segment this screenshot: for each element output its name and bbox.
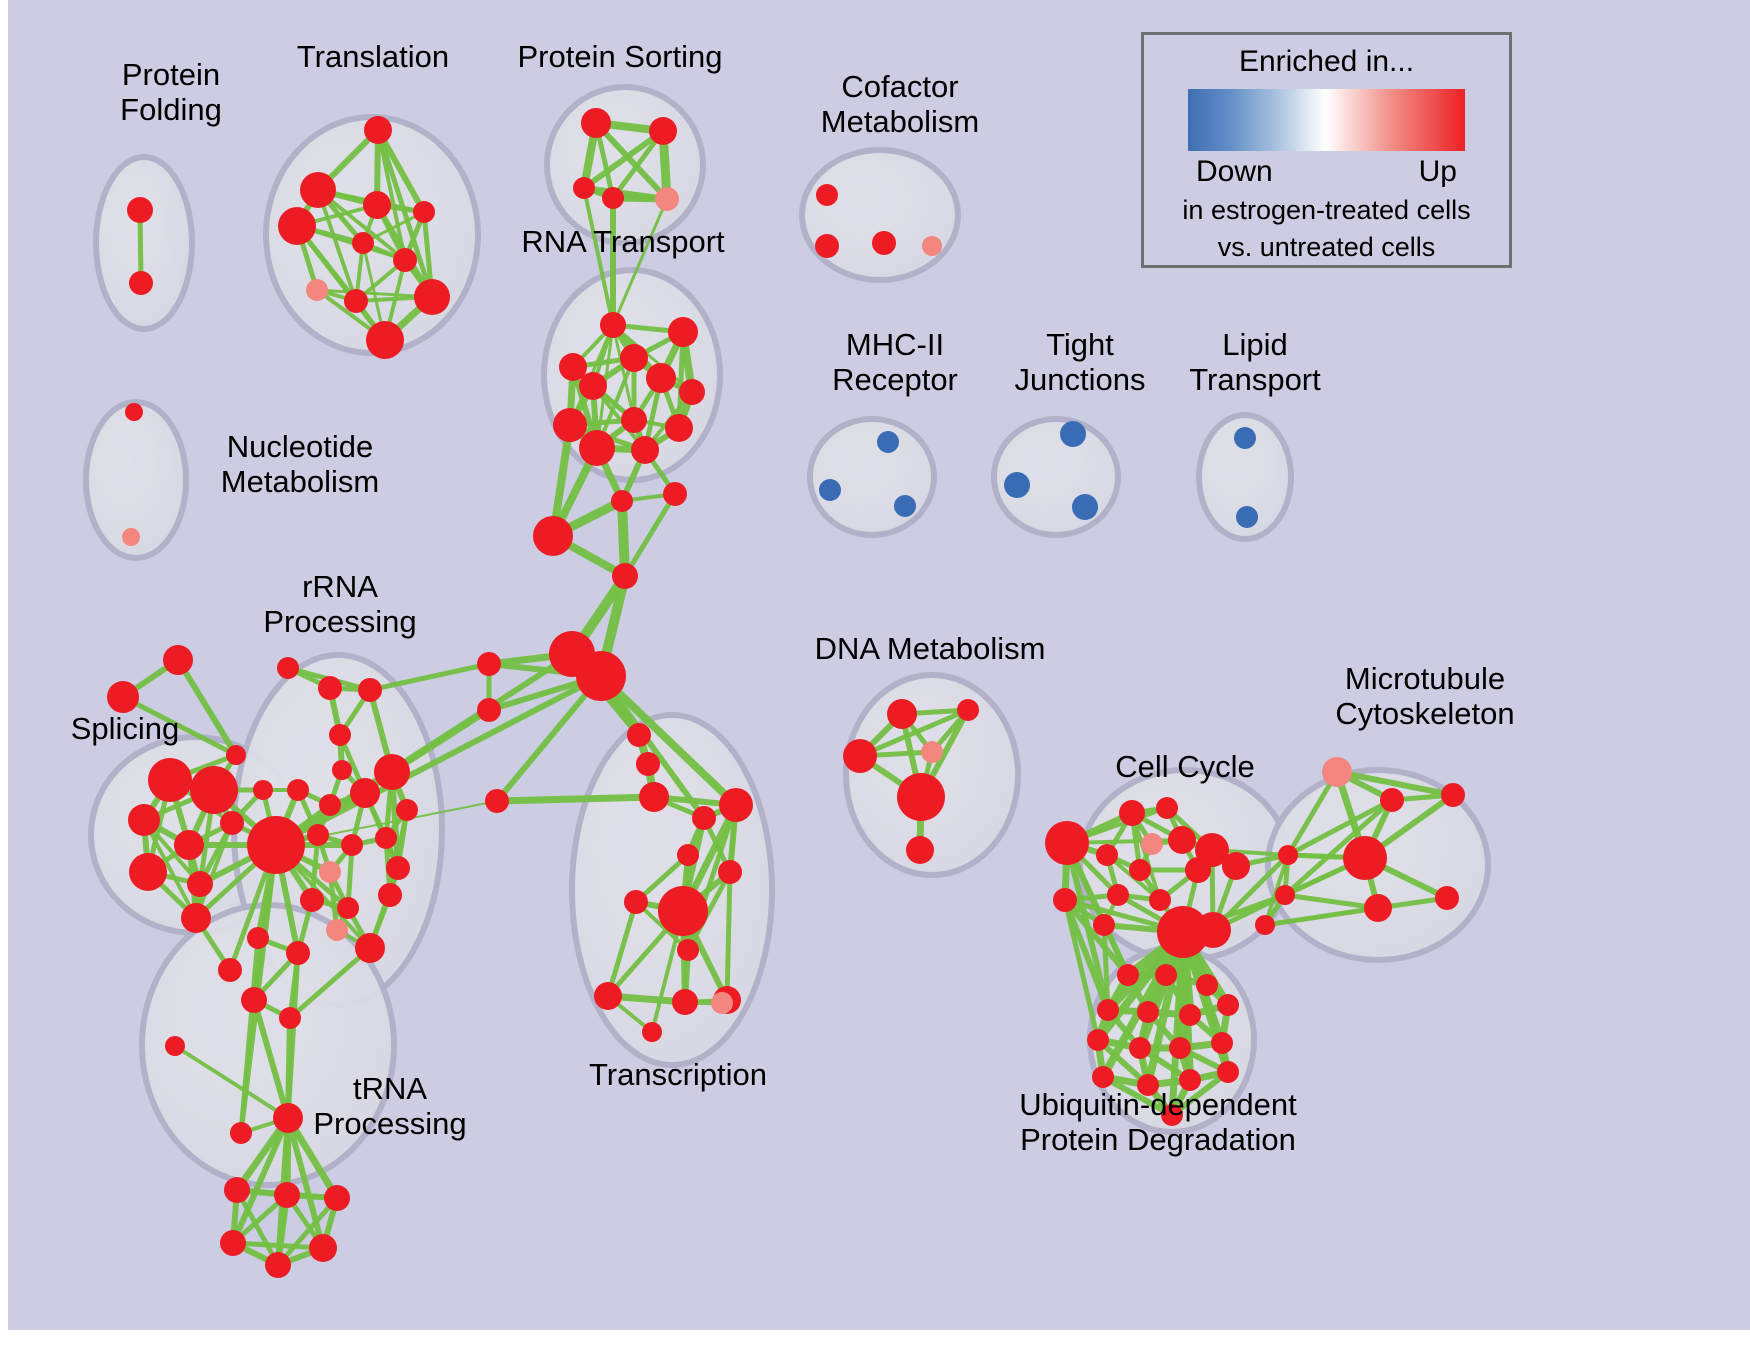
cluster-label-mhc-ii-receptor: MHC-II Receptor: [800, 328, 990, 397]
network-node[interactable]: [364, 116, 392, 144]
network-node[interactable]: [533, 516, 573, 556]
network-node[interactable]: [631, 436, 659, 464]
cluster-label-nucleotide-metabolism: Nucleotide Metabolism: [195, 430, 405, 499]
network-node[interactable]: [319, 861, 341, 883]
network-node[interactable]: [1275, 885, 1295, 905]
cluster-label-protein-folding: Protein Folding: [76, 58, 266, 127]
network-node[interactable]: [337, 897, 359, 919]
network-node[interactable]: [366, 321, 404, 359]
network-node[interactable]: [843, 739, 877, 773]
network-node[interactable]: [1119, 800, 1145, 826]
network-node[interactable]: [1435, 886, 1459, 910]
network-node[interactable]: [692, 806, 716, 830]
cluster-label-protein-sorting: Protein Sorting: [500, 40, 740, 75]
network-node[interactable]: [477, 698, 501, 722]
network-node[interactable]: [278, 207, 316, 245]
network-node[interactable]: [190, 766, 238, 814]
network-node[interactable]: [573, 177, 595, 199]
network-node[interactable]: [220, 1230, 246, 1256]
network-node[interactable]: [1141, 833, 1163, 855]
network-node[interactable]: [655, 187, 679, 211]
cluster-label-transcription: Transcription: [568, 1058, 788, 1093]
network-node[interactable]: [125, 403, 143, 421]
network-node[interactable]: [624, 890, 648, 914]
cluster-label-dna-metabolism: DNA Metabolism: [800, 632, 1060, 667]
network-node[interactable]: [1129, 859, 1151, 881]
network-node[interactable]: [553, 408, 587, 442]
legend-title: Enriched in...: [1144, 45, 1509, 79]
cluster-label-rrna-processing: rRNA Processing: [240, 570, 440, 639]
network-node[interactable]: [1195, 912, 1231, 948]
network-node[interactable]: [344, 289, 368, 313]
network-node[interactable]: [1234, 427, 1256, 449]
network-node[interactable]: [679, 379, 705, 405]
network-node[interactable]: [107, 681, 139, 713]
network-node[interactable]: [1343, 836, 1387, 880]
network-node[interactable]: [226, 745, 246, 765]
network-node[interactable]: [287, 779, 309, 801]
network-node[interactable]: [1222, 852, 1250, 880]
network-node[interactable]: [241, 987, 267, 1013]
network-node[interactable]: [602, 187, 624, 209]
network-node[interactable]: [128, 804, 160, 836]
network-node[interactable]: [129, 853, 167, 891]
legend-up-label: Up: [1419, 155, 1457, 189]
network-node[interactable]: [579, 372, 607, 400]
network-node[interactable]: [600, 312, 626, 338]
network-node[interactable]: [1072, 494, 1098, 520]
network-node[interactable]: [636, 752, 660, 776]
network-node[interactable]: [1053, 888, 1077, 912]
network-node[interactable]: [378, 883, 402, 907]
legend-box: Enriched in... Down Up in estrogen-treat…: [1141, 32, 1512, 268]
network-node[interactable]: [355, 933, 385, 963]
legend-color-gradient: [1188, 89, 1465, 151]
network-node[interactable]: [253, 780, 273, 800]
network-node[interactable]: [363, 191, 391, 219]
network-node[interactable]: [374, 754, 410, 790]
network-node[interactable]: [1278, 845, 1298, 865]
network-node[interactable]: [386, 856, 410, 880]
network-node[interactable]: [286, 941, 310, 965]
network-node[interactable]: [639, 782, 669, 812]
network-node[interactable]: [129, 271, 153, 295]
network-node[interactable]: [668, 317, 698, 347]
network-node[interactable]: [718, 860, 742, 884]
network-node[interactable]: [581, 108, 611, 138]
cluster-label-ubiquitin-protein-degradation: Ubiquitin-dependent Protein Degradation: [988, 1088, 1328, 1157]
network-node[interactable]: [358, 678, 382, 702]
network-node[interactable]: [1093, 914, 1115, 936]
network-node[interactable]: [1155, 964, 1177, 986]
network-node[interactable]: [375, 827, 397, 849]
network-node[interactable]: [396, 799, 418, 821]
network-node[interactable]: [816, 184, 838, 206]
network-node[interactable]: [1211, 1032, 1233, 1054]
network-node[interactable]: [300, 172, 336, 208]
network-node[interactable]: [350, 778, 380, 808]
network-node[interactable]: [163, 645, 193, 675]
network-node[interactable]: [719, 788, 753, 822]
network-edge: [497, 797, 654, 801]
network-node[interactable]: [414, 279, 450, 315]
network-node[interactable]: [872, 231, 896, 255]
network-node[interactable]: [906, 836, 934, 864]
network-node[interactable]: [309, 1234, 337, 1262]
cluster-label-cofactor-metabolism: Cofactor Metabolism: [790, 70, 1010, 139]
network-node[interactable]: [1364, 894, 1392, 922]
network-edge: [625, 494, 675, 576]
network-node[interactable]: [318, 676, 342, 700]
cluster-protein-folding: [96, 157, 192, 329]
network-node[interactable]: [220, 811, 244, 835]
network-node[interactable]: [1107, 884, 1129, 906]
network-node[interactable]: [477, 652, 501, 676]
network-node[interactable]: [1117, 964, 1139, 986]
network-node[interactable]: [594, 982, 622, 1010]
network-node[interactable]: [642, 1022, 662, 1042]
network-node[interactable]: [1169, 1037, 1191, 1059]
network-node[interactable]: [1217, 1061, 1239, 1083]
network-node[interactable]: [307, 824, 329, 846]
network-edge: [727, 872, 730, 1000]
network-node[interactable]: [1380, 788, 1404, 812]
cluster-mhc-ii-receptor: [810, 419, 934, 535]
legend-down-label: Down: [1196, 155, 1273, 189]
network-node[interactable]: [677, 844, 699, 866]
network-node[interactable]: [677, 939, 699, 961]
network-node[interactable]: [279, 1007, 301, 1029]
network-node[interactable]: [187, 871, 213, 897]
cluster-cofactor-metabolism: [802, 150, 958, 280]
network-node[interactable]: [224, 1177, 250, 1203]
network-node[interactable]: [1236, 506, 1258, 528]
cluster-label-cell-cycle: Cell Cycle: [1095, 750, 1275, 785]
network-node[interactable]: [711, 992, 733, 1014]
network-node[interactable]: [352, 232, 374, 254]
network-node[interactable]: [1096, 844, 1118, 866]
network-node[interactable]: [1129, 1037, 1151, 1059]
network-node[interactable]: [612, 563, 638, 589]
network-node[interactable]: [1156, 797, 1178, 819]
network-node[interactable]: [300, 888, 324, 912]
network-node[interactable]: [1045, 821, 1089, 865]
legend-subtitle-line1: in estrogen-treated cells: [1144, 195, 1509, 226]
network-node[interactable]: [611, 490, 633, 512]
network-node[interactable]: [887, 699, 917, 729]
network-node[interactable]: [1060, 421, 1086, 447]
network-node[interactable]: [485, 789, 509, 813]
network-node[interactable]: [665, 414, 693, 442]
network-node[interactable]: [921, 741, 943, 763]
network-node[interactable]: [324, 1185, 350, 1211]
network-node[interactable]: [413, 201, 435, 223]
network-node[interactable]: [627, 723, 651, 747]
network-node[interactable]: [1196, 974, 1218, 996]
network-node[interactable]: [1441, 783, 1465, 807]
figure-canvas: Protein FoldingTranslationProtein Sortin…: [0, 0, 1750, 1360]
cluster-label-rna-transport: RNA Transport: [508, 225, 738, 260]
network-node[interactable]: [332, 760, 352, 780]
network-node[interactable]: [148, 758, 192, 802]
network-node[interactable]: [649, 117, 677, 145]
network-node[interactable]: [672, 989, 698, 1015]
network-node[interactable]: [181, 903, 211, 933]
network-node[interactable]: [1097, 999, 1119, 1021]
network-node[interactable]: [127, 197, 153, 223]
network-node[interactable]: [646, 363, 676, 393]
network-node[interactable]: [247, 816, 305, 874]
network-node[interactable]: [218, 958, 242, 982]
network-node[interactable]: [277, 657, 299, 679]
network-node[interactable]: [274, 1182, 300, 1208]
network-node[interactable]: [620, 344, 648, 372]
network-node[interactable]: [894, 495, 916, 517]
cluster-label-tight-junctions: Tight Junctions: [985, 328, 1175, 397]
network-node[interactable]: [1217, 994, 1239, 1016]
network-node[interactable]: [247, 927, 269, 949]
cluster-label-microtubule-cytoskeleton: Microtubule Cytoskeleton: [1300, 662, 1550, 731]
network-node[interactable]: [1168, 826, 1196, 854]
network-node[interactable]: [922, 236, 942, 256]
network-node[interactable]: [329, 724, 351, 746]
network-node[interactable]: [663, 482, 687, 506]
cluster-protein-sorting: [547, 87, 703, 243]
network-node[interactable]: [306, 279, 328, 301]
legend-subtitle-line2: vs. untreated cells: [1144, 232, 1509, 263]
network-node[interactable]: [1322, 757, 1352, 787]
network-node[interactable]: [957, 699, 979, 721]
network-node[interactable]: [265, 1252, 291, 1278]
network-node[interactable]: [122, 528, 140, 546]
network-node[interactable]: [341, 834, 363, 856]
cluster-label-translation: Translation: [278, 40, 468, 75]
network-node[interactable]: [576, 651, 626, 701]
network-node[interactable]: [1137, 1001, 1159, 1023]
network-node[interactable]: [815, 234, 839, 258]
network-node[interactable]: [1149, 889, 1171, 911]
network-node[interactable]: [1255, 915, 1275, 935]
network-node[interactable]: [165, 1036, 185, 1056]
network-node[interactable]: [326, 919, 348, 941]
network-node[interactable]: [877, 431, 899, 453]
network-node[interactable]: [1004, 472, 1030, 498]
network-node[interactable]: [819, 479, 841, 501]
network-node[interactable]: [230, 1122, 252, 1144]
network-node[interactable]: [1092, 1066, 1114, 1088]
network-node[interactable]: [579, 430, 615, 466]
network-node[interactable]: [319, 794, 341, 816]
cluster-label-lipid-transport: Lipid Transport: [1160, 328, 1350, 397]
cluster-label-splicing: Splicing: [55, 712, 195, 747]
network-node[interactable]: [897, 773, 945, 821]
cluster-label-trna-processing: tRNA Processing: [290, 1072, 490, 1141]
network-node[interactable]: [1179, 1004, 1201, 1026]
network-node[interactable]: [658, 886, 708, 936]
network-node[interactable]: [1185, 857, 1211, 883]
network-node[interactable]: [1087, 1029, 1109, 1051]
network-node[interactable]: [621, 407, 647, 433]
network-node[interactable]: [393, 248, 417, 272]
network-node[interactable]: [174, 830, 204, 860]
